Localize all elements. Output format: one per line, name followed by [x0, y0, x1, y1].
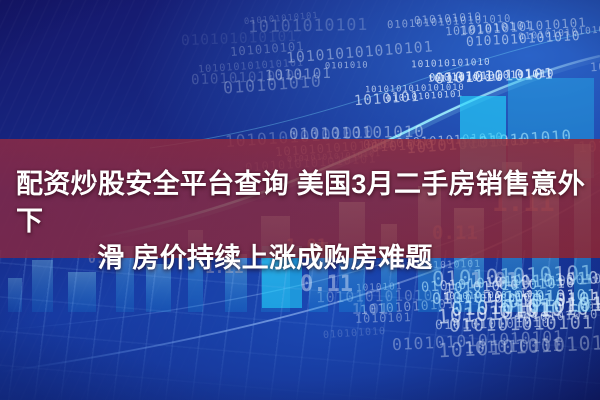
headline-line-1: 配资炒股安全平台查询 美国3月二手房销售意外下 — [16, 166, 588, 240]
news-cover-image: 0101010101011010101010101010010101010101… — [0, 0, 600, 400]
headline-line-2: 滑 房价持续上涨成购房难题 — [16, 240, 588, 277]
headline-text: 配资炒股安全平台查询 美国3月二手房销售意外下 滑 房价持续上涨成购房难题 — [16, 166, 588, 277]
